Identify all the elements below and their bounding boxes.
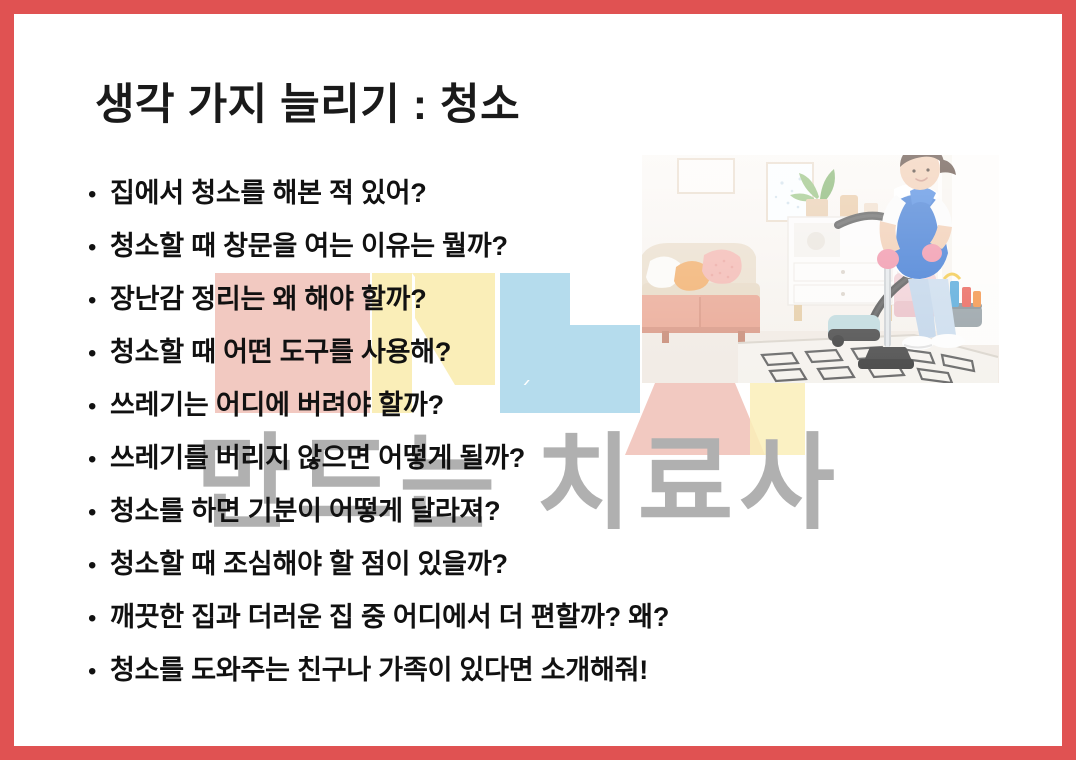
list-item-label: 청소를 하면 기분이 어떻게 달라져?	[110, 489, 500, 528]
list-item-label: 청소할 때 창문을 여는 이유는 뭘까?	[110, 224, 508, 263]
list-item-label: 쓰레기는 어디에 버려야 할까?	[110, 383, 444, 422]
list-item-label: 청소할 때 조심해야 할 점이 있을까?	[110, 542, 508, 581]
list-item: • 청소할 때 어떤 도구를 사용해?	[88, 330, 968, 383]
list-item: • 쓰레기를 버리지 않으면 어떻게 될까?	[88, 436, 968, 489]
bullet-marker-icon: •	[88, 289, 110, 313]
list-item: • 청소할 때 조심해야 할 점이 있을까?	[88, 542, 968, 595]
list-item: • 청소를 하면 기분이 어떻게 달라져?	[88, 489, 968, 542]
slide-border-bottom	[0, 746, 1076, 760]
list-item-label: 장난감 정리는 왜 해야 할까?	[110, 277, 427, 316]
bullet-marker-icon: •	[88, 342, 110, 366]
slide-border-left	[0, 0, 14, 760]
bullet-marker-icon: •	[88, 395, 110, 419]
bullet-marker-icon: •	[88, 448, 110, 472]
list-item-label: 깨끗한 집과 더러운 집 중 어디에서 더 편할까? 왜?	[110, 595, 669, 634]
bullet-marker-icon: •	[88, 660, 110, 684]
list-item: • 장난감 정리는 왜 해야 할까?	[88, 277, 968, 330]
list-item-label: 쓰레기를 버리지 않으면 어떻게 될까?	[110, 436, 525, 475]
slide-canvas: 만드는 치료사	[0, 0, 1076, 760]
slide-border-top	[0, 0, 1076, 14]
list-item: • 청소를 도와주는 친구나 가족이 있다면 소개해줘!	[88, 648, 968, 701]
list-item: • 청소할 때 창문을 여는 이유는 뭘까?	[88, 224, 968, 277]
slide-border-right	[1062, 0, 1076, 760]
list-item-label: 청소할 때 어떤 도구를 사용해?	[110, 330, 451, 369]
question-list: • 집에서 청소를 해본 적 있어? • 청소할 때 창문을 여는 이유는 뭘까…	[88, 171, 968, 701]
bullet-marker-icon: •	[88, 607, 110, 631]
list-item-label: 청소를 도와주는 친구나 가족이 있다면 소개해줘!	[110, 648, 648, 687]
bullet-marker-icon: •	[88, 183, 110, 207]
list-item: • 쓰레기는 어디에 버려야 할까?	[88, 383, 968, 436]
bullet-marker-icon: •	[88, 554, 110, 578]
list-item: • 깨끗한 집과 더러운 집 중 어디에서 더 편할까? 왜?	[88, 595, 968, 648]
list-item-label: 집에서 청소를 해본 적 있어?	[110, 171, 427, 210]
bullet-marker-icon: •	[88, 236, 110, 260]
bullet-marker-icon: •	[88, 501, 110, 525]
page-title: 생각 가지 늘리기 : 청소	[95, 70, 520, 132]
list-item: • 집에서 청소를 해본 적 있어?	[88, 171, 968, 224]
